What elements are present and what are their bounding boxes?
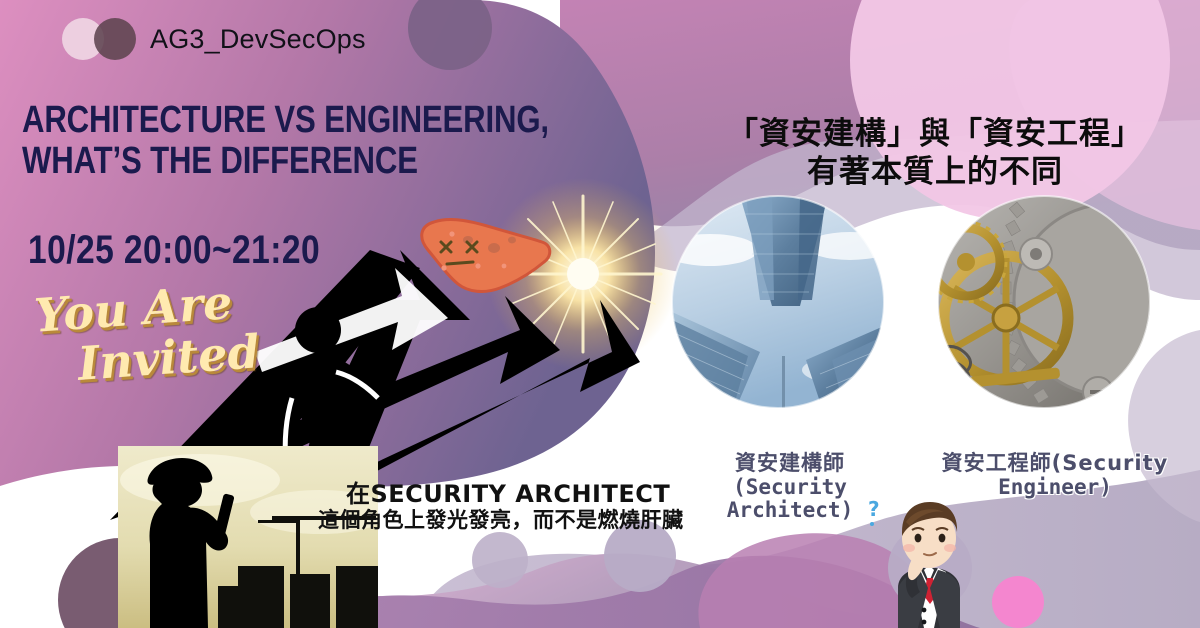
poster-canvas: AG3_DevSecOps Architecture vs Engineerin… [0,0,1200,628]
logo-circle-dark [94,18,136,60]
page-title: Architecture vs Engineering, What’s the … [22,100,549,181]
caption-security-architect: 資安建構師 (Security Architect) [700,452,880,523]
page-title-line-2: What’s the Difference [22,141,549,182]
question-mark-icon: ? [868,497,880,526]
event-datetime: 10/25 20:00~21:20 [28,228,320,273]
caption-engineer-line-1: 資安工程師(Security [942,451,1169,475]
chinese-headline-line-1: 「資安建構」與「資安工程」 [700,116,1170,154]
chinese-headline-line-2: 有著本質上的不同 [700,154,1170,192]
thinking-businessman-icon: ? [862,492,988,628]
caption-architect-en-2: Architect) [727,498,853,522]
chinese-headline: 「資安建構」與「資安工程」 有著本質上的不同 [700,116,1170,192]
caption-architect-en-1: (Security [733,475,847,499]
svg-text:?: ? [868,497,880,521]
caption-architect-cn: 資安建構師 [735,451,845,475]
center-note-line-1: 在SECURITY ARCHITECT [346,480,684,508]
caption-engineer-line-2: Engineer) [998,475,1112,499]
hot-pink-circle [992,576,1044,628]
center-note: 在SECURITY ARCHITECT 這個角色上發光發亮，而不是燃燒肝臟 [318,480,684,533]
invitation-line-2: Invited [76,329,261,387]
two-overlapping-circles-icon [62,18,136,60]
page-title-line-1: Architecture vs Engineering, [22,100,549,141]
lavender-circle-mid [472,532,528,588]
brand-name: AG3_DevSecOps [150,24,366,55]
construction-worker-silhouette-photo [118,446,390,628]
center-note-line-2: 這個角色上發光發亮，而不是燃燒肝臟 [318,508,684,533]
invitation-script-text: You Are Invited [33,278,261,389]
brand-logo: AG3_DevSecOps [62,18,366,60]
